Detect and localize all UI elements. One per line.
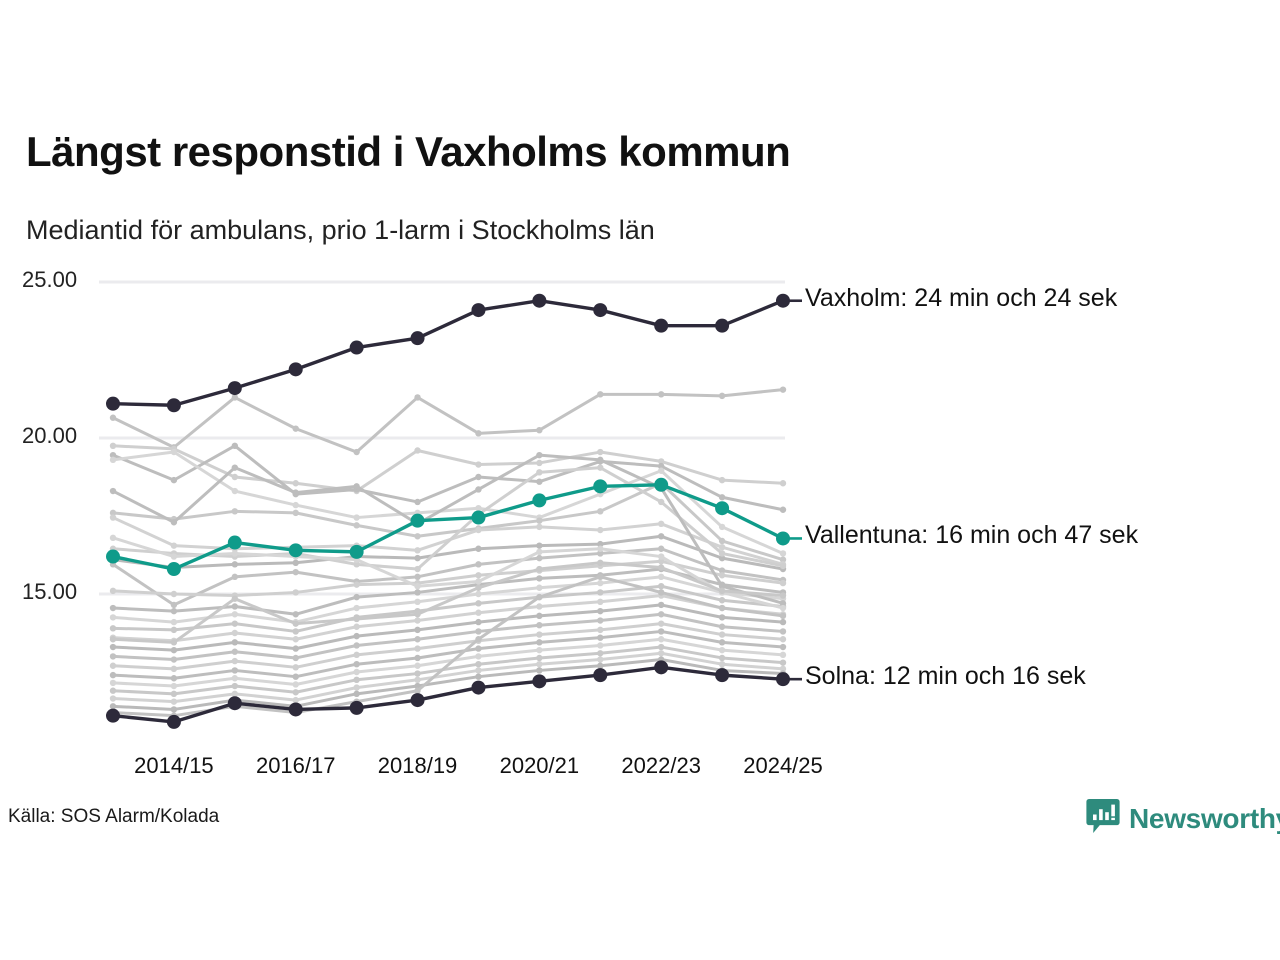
background-series-point [536,622,542,628]
series-point-vallentuna[interactable] [106,550,120,564]
bar-chart-speech-bubble-icon [1086,798,1120,839]
background-series-point [597,589,603,595]
background-series-point [658,611,664,617]
series-point-vaxholm[interactable] [654,319,668,333]
background-series-point [110,653,116,659]
background-series-point [232,443,238,449]
background-series-point [171,656,177,662]
background-series-point [536,639,542,645]
series-point-solna[interactable] [289,702,303,716]
background-series-point [293,697,299,703]
background-series-point [536,478,542,484]
background-series-point [658,521,664,527]
x-axis-tick-label: 2022/23 [621,753,701,779]
background-series-point [293,673,299,679]
background-series-point [110,535,116,541]
background-series-point [353,522,359,528]
background-series-point [232,550,238,556]
series-point-vallentuna[interactable] [228,536,242,550]
background-series-point [293,681,299,687]
background-series-point [719,572,725,578]
background-series-point [293,620,299,626]
background-series-point [353,605,359,611]
background-series-point [232,611,238,617]
background-series-point [658,644,664,650]
x-axis-tick-label: 2018/19 [378,753,458,779]
background-series-point [597,617,603,623]
series-point-vaxholm[interactable] [776,294,790,308]
background-series-point [597,599,603,605]
background-series-point [658,583,664,589]
background-series-point [353,449,359,455]
background-series-point [658,553,664,559]
background-series-point [232,603,238,609]
background-series-line [113,660,783,710]
background-series-point [171,683,177,689]
background-series-point [780,480,786,486]
background-series-point [414,583,420,589]
background-series-point [597,642,603,648]
background-series-point [293,664,299,670]
series-point-vallentuna[interactable] [471,511,485,525]
background-series-point [658,546,664,552]
background-series-point [780,386,786,392]
background-series-point [780,605,786,611]
background-series-point [232,649,238,655]
background-series-point [293,655,299,661]
background-series-point [536,452,542,458]
series-point-vaxholm[interactable] [532,294,546,308]
background-series-point [353,677,359,683]
background-series-point [780,644,786,650]
background-series-point [293,645,299,651]
background-series-point [780,659,786,665]
background-series-point [536,667,542,673]
series-point-vaxholm[interactable] [228,381,242,395]
background-series-point [658,391,664,397]
background-series-point [475,561,481,567]
background-series-point [293,689,299,695]
background-series-point [353,483,359,489]
background-series-point [475,645,481,651]
background-series-point [475,673,481,679]
x-axis-tick-label: 2024/25 [743,753,823,779]
background-series-point [658,602,664,608]
background-series-point [293,425,299,431]
background-series-point [110,636,116,642]
background-series-point [171,639,177,645]
background-series-point [414,627,420,633]
background-series-point [719,655,725,661]
background-series-point [414,447,420,453]
background-series-point [719,647,725,653]
x-axis-tick-label: 2016/17 [256,753,336,779]
background-series-point [658,650,664,656]
background-series-point [110,703,116,709]
background-series-point [719,614,725,620]
background-series-point [536,542,542,548]
series-point-vallentuna[interactable] [167,562,181,576]
source-note: Källa: SOS Alarm/Kolada [8,806,219,828]
background-series-point [110,514,116,520]
background-series-point [171,591,177,597]
background-series-point [110,688,116,694]
x-axis-tick-label: 2014/15 [134,753,214,779]
background-series-point [597,391,603,397]
background-series-point [353,661,359,667]
background-series-point [293,636,299,642]
background-series-point [353,684,359,690]
background-series-point [353,691,359,697]
background-series-point [414,547,420,553]
background-series-point [414,555,420,561]
series-point-vaxholm[interactable] [471,303,485,317]
background-series-line [113,390,783,452]
background-series-point [414,566,420,572]
series-point-vallentuna[interactable] [411,514,425,528]
background-series-point [719,639,725,645]
background-series-point [232,691,238,697]
background-series-point [780,550,786,556]
background-series-point [475,474,481,480]
background-series-point [110,663,116,669]
series-point-vaxholm[interactable] [593,303,607,317]
background-series-point [719,477,725,483]
background-series-point [171,627,177,633]
background-series-point [597,663,603,669]
background-series-point [110,672,116,678]
background-series-point [719,544,725,550]
series-point-vaxholm[interactable] [715,319,729,333]
background-series-point [232,574,238,580]
background-series-point [536,517,542,523]
background-series-point [110,443,116,449]
background-series-point [719,588,725,594]
background-series-point [719,550,725,556]
y-axis-tick-label: 15.00 [22,579,77,605]
background-series-point [475,430,481,436]
background-series-point [414,589,420,595]
background-series-point [353,616,359,622]
series-point-solna[interactable] [532,674,546,688]
background-series-point [171,602,177,608]
background-series-point [536,549,542,555]
background-series-line [113,563,783,643]
series-point-solna[interactable] [167,715,181,729]
series-point-solna[interactable] [350,701,364,715]
background-series-point [110,614,116,620]
series-point-vallentuna[interactable] [654,478,668,492]
background-series-point [110,680,116,686]
background-series-point [110,588,116,594]
background-series-point [171,675,177,681]
background-series-point [475,591,481,597]
background-series-point [414,394,420,400]
series-label-vaxholm[interactable]: Vaxholm: 24 min och 24 sek [805,284,1117,313]
background-series-point [780,592,786,598]
background-series-point [232,394,238,400]
series-point-vaxholm[interactable] [350,341,364,355]
background-series-point [171,553,177,559]
background-series-point [110,488,116,494]
background-series-point [658,636,664,642]
background-series-point [536,460,542,466]
series-point-solna[interactable] [593,668,607,682]
background-series-point [353,581,359,587]
series-point-vallentuna[interactable] [289,543,303,557]
series-label-vallentuna[interactable]: Vallentuna: 16 min och 47 sek [805,521,1138,550]
background-series-point [658,589,664,595]
background-series-point [232,464,238,470]
background-series-point [232,488,238,494]
background-series-point [110,625,116,631]
background-series-point [475,610,481,616]
background-series-point [597,508,603,514]
series-point-solna[interactable] [106,709,120,723]
background-series-point [597,580,603,586]
x-axis-tick-label: 2020/21 [500,753,580,779]
background-series-point [414,655,420,661]
background-series-point [597,574,603,580]
background-series-point [353,652,359,658]
series-point-vaxholm[interactable] [167,398,181,412]
background-series-point [597,457,603,463]
background-series-point [536,524,542,530]
background-series-point [293,510,299,516]
background-series-point [293,569,299,575]
background-series-point [597,449,603,455]
background-series-point [597,627,603,633]
background-series-point [536,427,542,433]
background-series-point [475,653,481,659]
background-series-point [536,555,542,561]
background-series-point [536,613,542,619]
background-series-point [232,474,238,480]
background-series-point [658,574,664,580]
series-point-vaxholm[interactable] [106,397,120,411]
background-series-point [171,449,177,455]
background-series-point [414,617,420,623]
y-axis-tick-label: 20.00 [22,423,77,449]
background-series-point [475,505,481,511]
background-series-point [658,499,664,505]
background-series-point [171,619,177,625]
background-series-point [780,613,786,619]
background-series-point [171,519,177,525]
background-series-point [780,619,786,625]
background-series-point [232,561,238,567]
y-axis-tick-label: 25.00 [22,267,77,293]
background-series-point [780,580,786,586]
background-series-point [719,393,725,399]
background-series-point [110,605,116,611]
background-series-point [597,634,603,640]
background-series-point [414,688,420,694]
background-series-point [597,608,603,614]
background-series-point [293,480,299,486]
background-series-point [232,639,238,645]
background-series-point [658,564,664,570]
background-series-point [475,636,481,642]
background-series-point [414,574,420,580]
series-point-vallentuna[interactable] [715,501,729,515]
background-series-point [475,585,481,591]
background-series-point [110,457,116,463]
background-series-point [171,698,177,704]
background-series-point [475,461,481,467]
background-series-point [475,628,481,634]
background-series-point [353,624,359,630]
chart-root: Längst responstid i Vaxholms kommun Medi… [0,0,1280,960]
background-series-point [414,611,420,617]
background-series-point [353,514,359,520]
background-series-point [414,663,420,669]
background-series-point [353,669,359,675]
series-point-solna[interactable] [715,668,729,682]
background-series-point [171,706,177,712]
background-series-point [719,605,725,611]
background-series-point [597,650,603,656]
background-series-point [536,566,542,572]
background-series-point [719,538,725,544]
background-series-point [658,628,664,634]
background-series-point [536,575,542,581]
background-series-point [597,656,603,662]
background-series-point [658,620,664,626]
background-series-point [110,644,116,650]
background-series-point [414,533,420,539]
series-point-solna[interactable] [654,660,668,674]
background-series-point [536,661,542,667]
series-point-solna[interactable] [776,672,790,686]
background-series-point [414,670,420,676]
background-series-point [171,542,177,548]
newsworthy-logo[interactable]: Newsworthy [1086,798,1280,839]
background-series-point [171,666,177,672]
background-series-point [780,636,786,642]
background-series-point [780,628,786,634]
series-point-vallentuna[interactable] [593,479,607,493]
background-series-point [597,464,603,470]
background-series-point [780,652,786,658]
background-series-point [536,655,542,661]
background-series-point [536,647,542,653]
background-series-point [171,608,177,614]
background-series-point [475,600,481,606]
series-point-vaxholm[interactable] [411,331,425,345]
background-series-point [719,624,725,630]
background-series-point [232,675,238,681]
background-series-line [113,446,783,491]
background-series-point [232,630,238,636]
background-series-point [719,597,725,603]
background-series-point [536,594,542,600]
background-series-point [171,647,177,653]
background-series-point [414,645,420,651]
background-series-point [353,594,359,600]
logo-wordmark: Newsworthy [1129,803,1280,835]
background-series-point [475,667,481,673]
background-series-point [171,691,177,697]
series-point-vaxholm[interactable] [289,362,303,376]
background-series-point [414,599,420,605]
background-series-point [293,502,299,508]
background-series-point [719,661,725,667]
background-series-point [353,633,359,639]
background-series-point [536,631,542,637]
background-series-point [110,415,116,421]
background-series-point [232,508,238,514]
background-series-point [293,611,299,617]
series-point-vallentuna[interactable] [776,531,790,545]
series-point-solna[interactable] [228,696,242,710]
background-series-point [658,533,664,539]
background-series-point [658,468,664,474]
background-series-point [475,546,481,552]
background-series-point [475,486,481,492]
background-series-point [414,636,420,642]
background-series-point [536,603,542,609]
background-series-point [353,642,359,648]
background-series-point [780,507,786,513]
background-series-point [719,494,725,500]
background-series-point [780,563,786,569]
background-series-point [293,560,299,566]
background-series-point [475,572,481,578]
background-series-point [475,661,481,667]
background-series-point [536,585,542,591]
background-series-point [232,620,238,626]
background-series-point [536,469,542,475]
series-point-solna[interactable] [411,693,425,707]
background-series-point [293,489,299,495]
background-series-point [719,631,725,637]
background-series-point [171,477,177,483]
background-series-point [597,560,603,566]
series-line-vaxholm[interactable] [113,301,783,406]
background-series-point [597,527,603,533]
background-series-point [414,499,420,505]
background-series-point [232,667,238,673]
background-series-point [293,628,299,634]
background-series-point [414,677,420,683]
background-series-point [232,595,238,601]
background-series-point [110,695,116,701]
background-series-point [475,619,481,625]
background-series-point [475,527,481,533]
series-point-vallentuna[interactable] [532,493,546,507]
background-series-point [597,546,603,552]
background-series-point [475,578,481,584]
background-series-point [232,658,238,664]
series-point-vallentuna[interactable] [350,545,364,559]
series-label-solna[interactable]: Solna: 12 min och 16 sek [805,662,1086,691]
background-series-point [719,524,725,530]
series-point-solna[interactable] [471,681,485,695]
background-series-point [232,683,238,689]
background-series-point [293,589,299,595]
